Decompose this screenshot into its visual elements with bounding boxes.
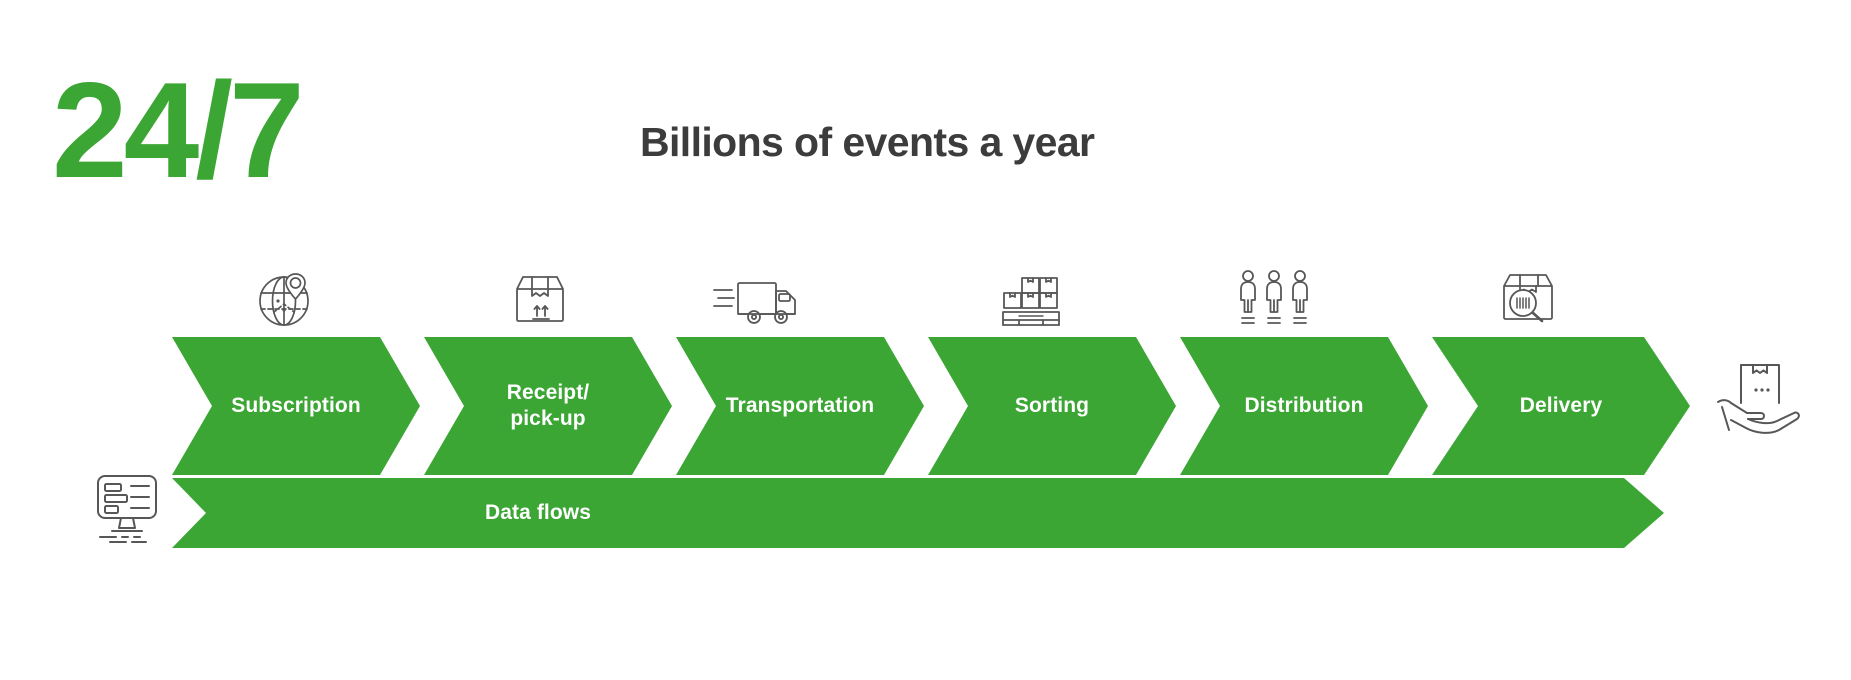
globe-location-pin-icon	[237, 258, 333, 340]
process-step-subscription[interactable]: Subscription	[172, 337, 420, 475]
delivery-truck-icon	[712, 262, 808, 344]
process-step-receipt-pickup[interactable]: Receipt/ pick-up	[424, 337, 672, 475]
data-flows-bar[interactable]: Data flows	[172, 478, 1664, 548]
process-step-label-line1: Receipt/	[507, 381, 590, 404]
pallet-boxes-icon	[988, 262, 1084, 344]
process-step-transportation[interactable]: Transportation	[676, 337, 924, 475]
process-step-delivery[interactable]: Delivery	[1432, 337, 1690, 475]
process-step-label: Receipt/ pick-up	[501, 380, 596, 432]
three-people-icon	[1228, 258, 1324, 340]
hand-holding-box-icon	[1712, 362, 1804, 440]
box-barcode-magnifier-icon	[1482, 258, 1578, 340]
process-step-label: Distribution	[1238, 393, 1369, 419]
process-step-label: Delivery	[1514, 393, 1609, 419]
process-step-label-line2: pick-up	[510, 407, 585, 430]
monitor-data-icon	[88, 468, 168, 550]
data-flows-label: Data flows	[485, 501, 591, 525]
process-step-label: Subscription	[225, 393, 367, 419]
page-title: Billions of events a year	[640, 118, 1094, 166]
stat-24-7: 24/7	[52, 62, 301, 198]
process-step-label: Sorting	[1009, 393, 1095, 419]
infographic-canvas: 24/7 Billions of events a year	[0, 0, 1851, 680]
process-step-sorting[interactable]: Sorting	[928, 337, 1176, 475]
box-up-arrows-icon	[492, 258, 588, 340]
process-step-label: Transportation	[720, 393, 880, 419]
step-icon-row	[0, 258, 1851, 340]
process-flow-chevrons: Subscription Receipt/ pick-up Transporta…	[0, 337, 1851, 475]
process-step-distribution[interactable]: Distribution	[1180, 337, 1428, 475]
